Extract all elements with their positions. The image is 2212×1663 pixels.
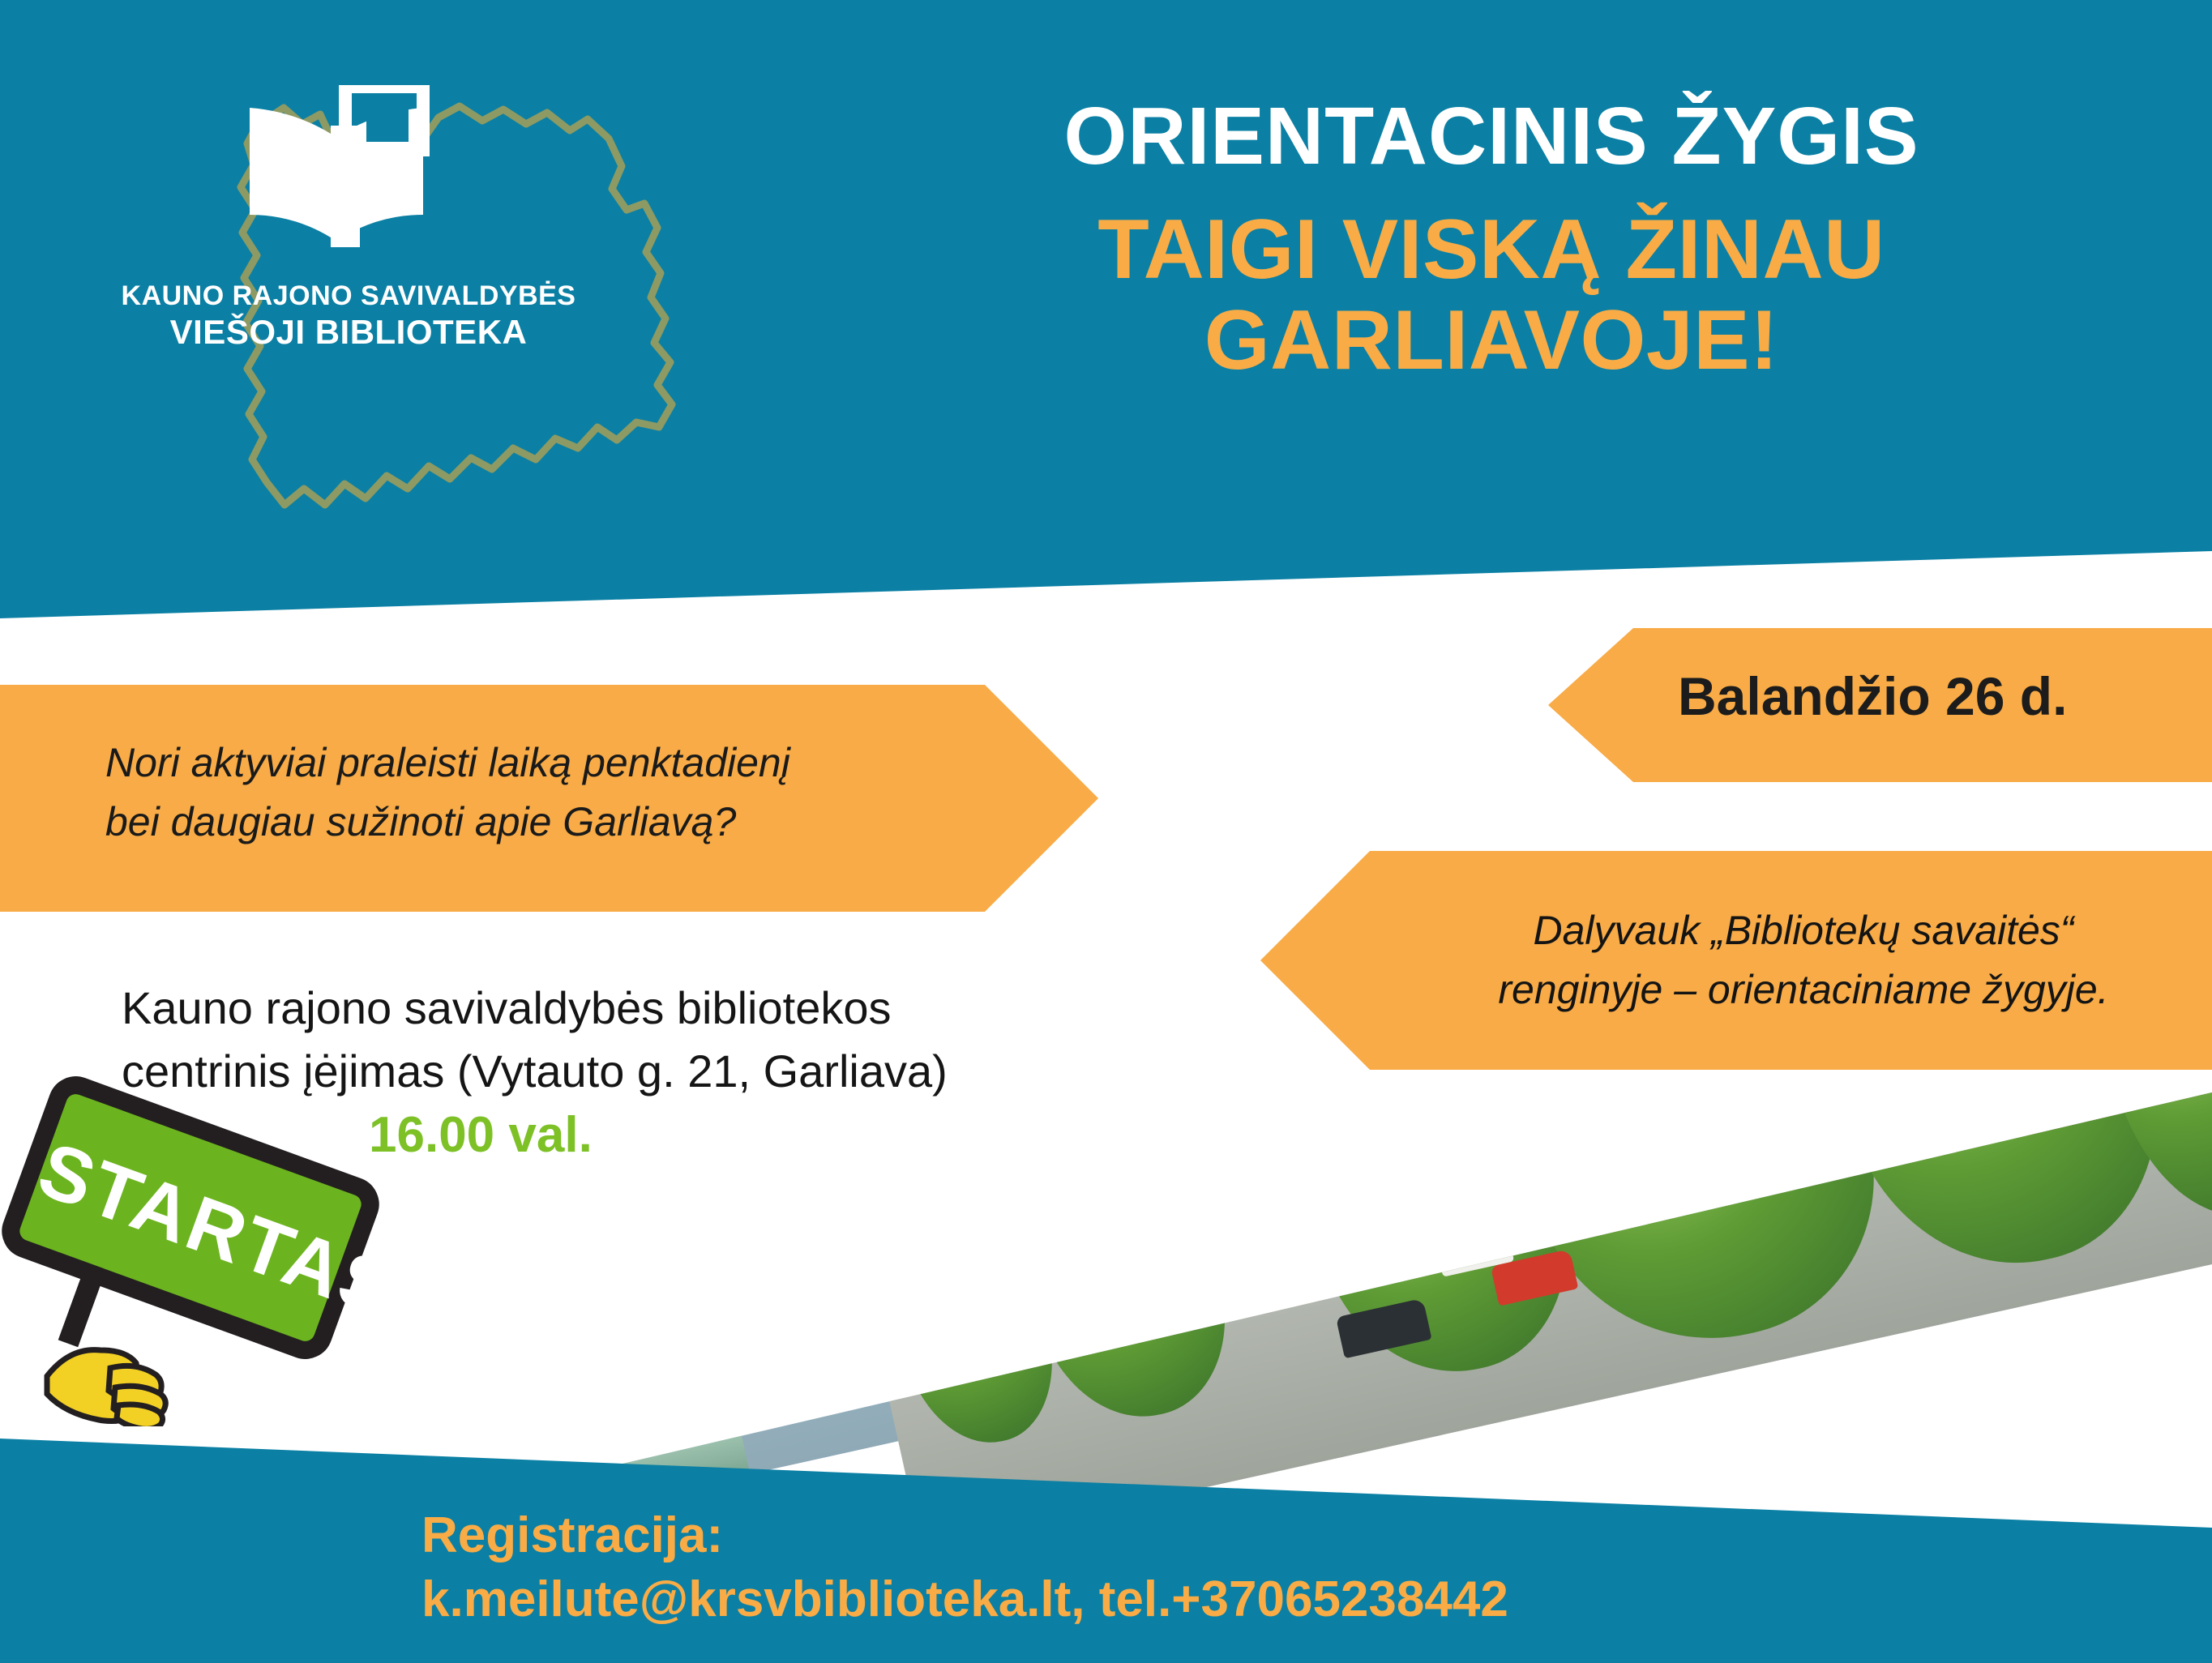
poster-canvas: KAUNO RAJONO SAVIVALDYBĖS VIEŠOJI BIBLIO… xyxy=(0,0,2212,1663)
event-time: 16.00 val. xyxy=(369,1106,593,1164)
address-line-2: centrinis įėjimas (Vytauto g. 21, Garlia… xyxy=(122,1040,1078,1103)
question-line-1: Nori aktyviai praleisti laiką penktadien… xyxy=(105,733,973,793)
question-banner-text: Nori aktyviai praleisti laiką penktadien… xyxy=(105,733,973,851)
registration-block: Registracija: k.meilute@krsvbiblioteka.l… xyxy=(421,1503,1508,1632)
page-subtitle: TAIGI VISKĄ ŽINAU GARLIAVOJE! xyxy=(827,204,2156,387)
library-glass-facade xyxy=(497,1187,746,1460)
library-sign-text: BIBLIOTEKA xyxy=(550,1413,682,1460)
date-banner: Balandžio 26 d. xyxy=(1548,628,2212,782)
invite-line-1: Dalyvauk „Bibliotekų savaitės“ xyxy=(1427,901,2180,960)
subtitle-line-1: TAIGI VISKĄ ŽINAU xyxy=(1097,203,1885,297)
registration-label: Registracija: xyxy=(421,1503,1508,1567)
invite-line-2: renginyje – orientaciniame žygyje. xyxy=(1427,960,2180,1020)
title-block: ORIENTACINIS ŽYGIS TAIGI VISKĄ ŽINAU GAR… xyxy=(827,96,2156,387)
subtitle-line-2: GARLIAVOJE! xyxy=(827,295,2156,386)
venue-address: Kauno rajono savivaldybės bibliotekos ce… xyxy=(122,977,1078,1104)
pointing-hand-icon xyxy=(41,1297,227,1426)
street-lamp xyxy=(931,1215,968,1358)
page-title: ORIENTACINIS ŽYGIS xyxy=(827,96,2156,177)
church-window xyxy=(1139,1203,1187,1289)
invite-banner-text: Dalyvauk „Bibliotekų savaitės“ renginyje… xyxy=(1427,901,2180,1019)
logo-line-2: VIEŠOJI BIBLIOTEKA xyxy=(97,312,600,353)
library-window xyxy=(406,1390,525,1464)
logo-text-block: KAUNO RAJONO SAVIVALDYBĖS VIEŠOJI BIBLIO… xyxy=(97,280,600,353)
question-line-2: bei daugiau sužinoti apie Garliavą? xyxy=(105,793,973,852)
question-banner: Nori aktyviai praleisti laiką penktadien… xyxy=(0,685,1098,912)
invite-banner: Dalyvauk „Bibliotekų savaitės“ renginyje… xyxy=(1260,851,2212,1070)
library-window xyxy=(386,1298,505,1373)
registration-contact[interactable]: k.meilute@krsvbiblioteka.lt, tel.+370652… xyxy=(421,1567,1508,1631)
logo-line-1: KAUNO RAJONO SAVIVALDYBĖS xyxy=(97,280,600,312)
background-house xyxy=(1230,1139,1409,1269)
open-book-bracket-icon xyxy=(243,85,430,247)
address-line-1: Kauno rajono savivaldybės bibliotekos xyxy=(122,977,1078,1040)
start-sign: STARTAS xyxy=(16,1122,397,1337)
event-date: Balandžio 26 d. xyxy=(1678,665,2067,727)
start-sign-label: STARTAS xyxy=(28,1125,352,1315)
